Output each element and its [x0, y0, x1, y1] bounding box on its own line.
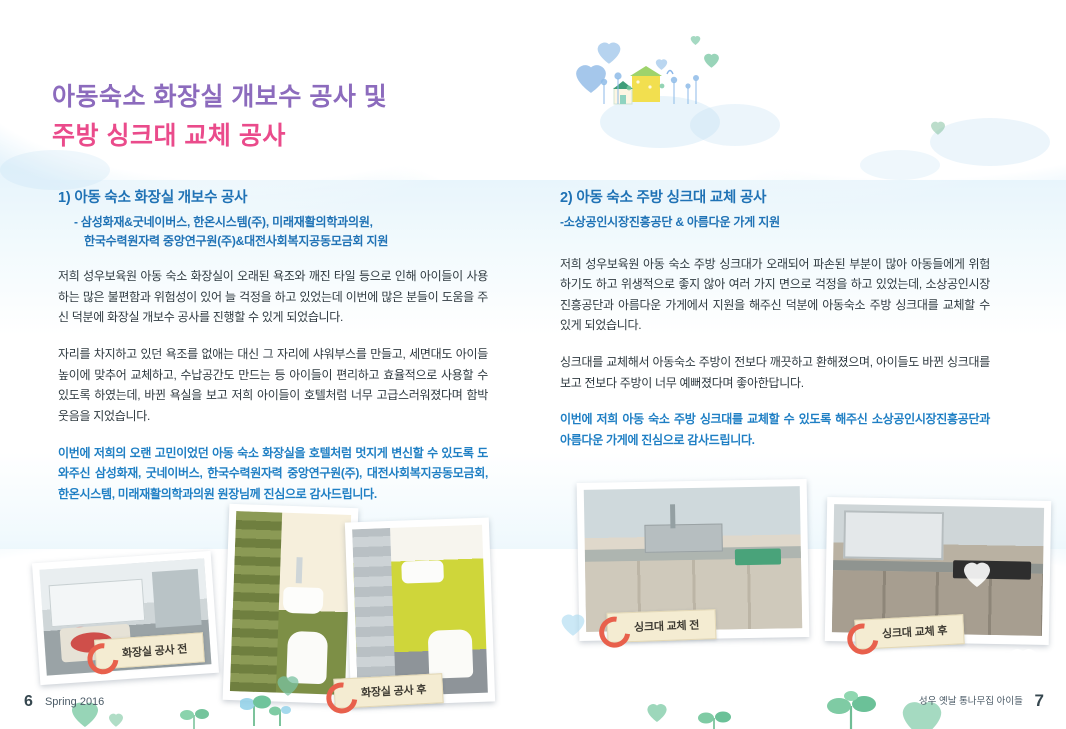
- footer-left: 6 Spring 2016: [24, 693, 104, 711]
- caption-sink-before-text: 싱크대 교체 전: [634, 620, 700, 634]
- heart-icon: [108, 712, 124, 727]
- heart-icon: [690, 35, 701, 45]
- footer-left-page-number: 6: [24, 693, 33, 710]
- heart-icon: [646, 702, 668, 722]
- sprout-illustration: [240, 688, 300, 729]
- caption-sink-before: 싱크대 교체 전: [607, 609, 717, 643]
- caption-bathroom-after: 화장실 공사 후: [333, 673, 444, 709]
- sprout-illustration: [176, 706, 212, 729]
- right-paragraph-2: 싱크대를 교체해서 아동숙소 주방이 전보다 깨끗하고 환해졌으며, 아이들도 …: [560, 352, 990, 393]
- right-section-heading: 2) 아동 숙소 주방 싱크대 교체 공사: [560, 186, 990, 207]
- heart-icon: [930, 120, 946, 135]
- right-accent-paragraph: 이번에 저희 아동 숙소 주방 싱크대를 교체할 수 있도록 해주신 소상공인시…: [560, 409, 990, 450]
- sprout-illustration: [818, 690, 884, 729]
- flower-sprigs-illustration: [596, 58, 706, 113]
- photo-bathroom-during-image: [230, 511, 351, 695]
- caption-bathroom-after-text: 화장실 공사 후: [361, 684, 427, 699]
- caption-bathroom-before-text: 화장실 공사 전: [122, 643, 188, 660]
- heart-icon: [560, 612, 586, 636]
- heart-icon: [1036, 86, 1066, 113]
- cloud-blue-5: [0, 150, 110, 190]
- footer-right-page-number: 7: [1035, 691, 1044, 710]
- left-paragraph-2: 자리를 차지하고 있던 욕조를 없애는 대신 그 자리에 샤워부스를 만들고, …: [58, 344, 488, 427]
- page-title-line-2: 주방 싱크대 교체 공사: [52, 117, 572, 156]
- left-section-heading: 1) 아동 숙소 화장실 개보수 공사: [58, 186, 488, 207]
- caption-sink-after-text: 싱크대 교체 후: [882, 625, 948, 640]
- right-sponsor-line-1: -소상공인시장진흥공단 & 아름다운 가게 지원: [560, 213, 990, 232]
- magazine-spread: 아동숙소 화장실 개보수 공사 및 주방 싱크대 교체 공사 1) 아동 숙소 …: [0, 0, 1066, 729]
- right-paragraph-1: 저희 성우보육원 아동 숙소 주방 싱크대가 오래되어 파손된 부분이 많아 아…: [560, 254, 990, 337]
- right-column: 2) 아동 숙소 주방 싱크대 교체 공사 -소상공인시장진흥공단 & 아름다운…: [560, 186, 990, 451]
- left-paragraph-1: 저희 성우보육원 아동 숙소 화장실이 오래된 욕조와 깨진 타일 등으로 인해…: [58, 266, 488, 328]
- sprout-illustration: [694, 708, 734, 729]
- heart-icon: [962, 560, 992, 587]
- cloud-blue-4: [860, 150, 940, 180]
- footer-right-text: 성우 옛날 통나무집 아이들: [919, 696, 1023, 707]
- left-accent-paragraph: 이번에 저희의 오랜 고민이었던 아동 숙소 화장실을 호텔처럼 멋지게 변신할…: [58, 443, 488, 505]
- page-title: 아동숙소 화장실 개보수 공사 및 주방 싱크대 교체 공사: [52, 78, 572, 156]
- photo-bathroom-after-image: [352, 525, 488, 697]
- left-sponsor-line-2: 한국수력원자력 중앙연구원(주)&대전사회복지공동모금회 지원: [84, 232, 488, 251]
- cloud-blue-3: [930, 118, 1050, 166]
- page-title-line-1: 아동숙소 화장실 개보수 공사 및: [52, 78, 572, 117]
- left-column: 1) 아동 숙소 화장실 개보수 공사 - 삼성화재&굿네이버스, 한온시스템(…: [58, 186, 488, 504]
- heart-icon: [1006, 646, 1040, 677]
- caption-sink-after: 싱크대 교체 후: [854, 614, 965, 650]
- footer-right: 성우 옛날 통나무집 아이들 7: [919, 691, 1044, 711]
- left-sponsor-line-1: - 삼성화재&굿네이버스, 한온시스템(주), 미래재활의학과의원,: [74, 213, 488, 232]
- footer-left-text: Spring 2016: [45, 696, 104, 708]
